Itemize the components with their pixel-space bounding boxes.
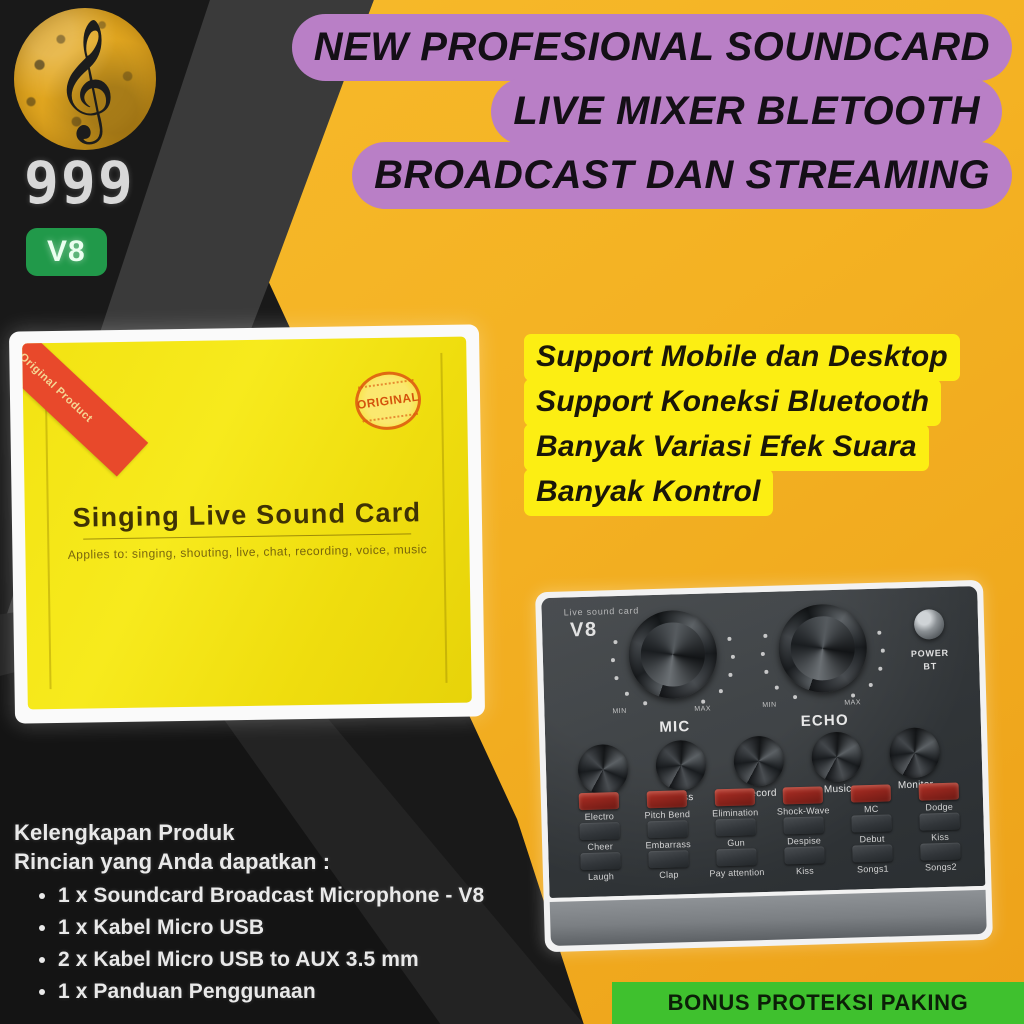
power-label-line1: POWER	[903, 647, 957, 662]
pad-label: Kiss	[771, 865, 839, 877]
pad-icon	[920, 843, 960, 861]
pad-icon	[716, 848, 756, 866]
list-item: 1 x Panduan Penggunaan	[58, 976, 514, 1008]
mic-knob-scale	[604, 595, 741, 717]
headline-line-3: BROADCAST DAN STREAMING	[352, 142, 1012, 209]
record-knob[interactable]	[733, 735, 784, 786]
monitor-knob[interactable]	[889, 727, 940, 778]
effect-button-shock-wave[interactable]: Shock-Wave	[769, 786, 838, 817]
bonus-banner: BONUS PROTEKSI PAKING	[612, 982, 1024, 1024]
headline-block: NEW PROFESIONAL SOUNDCARD LIVE MIXER BLE…	[352, 14, 1012, 206]
pad-label: Debut	[838, 833, 906, 845]
pad-label: Shock-Wave	[769, 805, 837, 817]
device-model-label: V8	[570, 619, 598, 643]
mic-knob-min-label: MIN	[612, 708, 627, 715]
pad-icon	[580, 852, 620, 870]
effect-button-dodge[interactable]: Dodge	[905, 782, 974, 813]
mic-knob-label: MIC	[637, 717, 713, 736]
pad-label: Pay attention	[703, 867, 771, 879]
effect-button-electro[interactable]: Electro	[565, 792, 634, 823]
power-label-line2: BT	[903, 660, 957, 675]
effect-button-debut[interactable]: Debut	[837, 814, 906, 845]
pad-label: Kiss	[906, 831, 974, 843]
pad-icon	[783, 816, 823, 834]
effect-button-songs1[interactable]: Songs1	[838, 844, 907, 875]
effect-button-grid: Electro Pitch Bend Elimination Shock-Wav…	[565, 782, 975, 883]
headline-line-2: LIVE MIXER BLETOOTH	[491, 78, 1002, 145]
pad-label: Pitch Bend	[633, 809, 701, 821]
pad-icon	[784, 846, 824, 864]
original-seal-icon: ORIGINAL	[351, 368, 424, 435]
pad-icon	[647, 820, 687, 838]
effect-button-elimination[interactable]: Elimination	[701, 788, 770, 819]
effect-button-pay-attention[interactable]: Pay attention	[702, 848, 771, 879]
pad-label: Despise	[770, 835, 838, 847]
feature-item-1: Support Mobile dan Desktop	[524, 334, 960, 381]
brand-logo-block: 𝄞 999 V8	[14, 8, 194, 276]
package-contents-block: Kelengkapan Produk Rincian yang Anda dap…	[14, 818, 514, 1008]
echo-knob-min-label: MIN	[762, 702, 777, 709]
model-badge: V8	[26, 228, 107, 276]
pad-icon	[919, 813, 959, 831]
box-subtitle: Applies to: singing, shouting, live, cha…	[25, 542, 469, 563]
echo-knob-scale	[754, 588, 891, 710]
pad-icon	[715, 788, 755, 806]
device-control-panel: Live sound card V8 MIN MAX MIC	[541, 586, 985, 898]
box-title: Singing Live Sound Card	[25, 497, 469, 535]
contents-list: 1 x Soundcard Broadcast Microphone - V8 …	[14, 880, 514, 1008]
treble-clef-glyph: 𝄞	[54, 27, 115, 131]
list-item: 2 x Kabel Micro USB to AUX 3.5 mm	[58, 944, 514, 976]
pad-icon	[648, 850, 688, 868]
contents-heading-2: Rincian yang Anda dapatkan :	[14, 847, 514, 876]
effect-button-laugh[interactable]: Laugh	[566, 852, 635, 883]
soundcard-device-image: Live sound card V8 MIN MAX MIC	[535, 580, 993, 952]
mic-knob-max-label: MAX	[694, 705, 711, 712]
pad-label: Laugh	[567, 871, 635, 883]
pad-icon	[919, 783, 959, 801]
pad-icon	[580, 822, 620, 840]
pad-label: Clap	[635, 869, 703, 881]
pad-icon	[783, 786, 823, 804]
pad-icon	[647, 790, 687, 808]
list-item: 1 x Soundcard Broadcast Microphone - V8	[58, 880, 514, 912]
treble-clef-icon: 𝄞	[14, 8, 156, 150]
echo-knob-label: ECHO	[783, 711, 867, 730]
box-ribbon-text: Original Product	[22, 351, 95, 425]
effect-button-mc[interactable]: MC	[837, 784, 906, 815]
contents-heading-1: Kelengkapan Produk	[14, 818, 514, 847]
echo-knob-max-label: MAX	[844, 699, 861, 706]
pad-icon	[852, 844, 892, 862]
effect-button-gun[interactable]: Gun	[701, 818, 770, 849]
pad-icon	[715, 818, 755, 836]
effect-button-pitch-bend[interactable]: Pitch Bend	[633, 790, 702, 821]
feature-list: Support Mobile dan Desktop Support Konek…	[524, 334, 960, 514]
effect-button-clap[interactable]: Clap	[634, 850, 703, 881]
bass-knob[interactable]	[655, 740, 706, 791]
pad-label: MC	[837, 803, 905, 815]
box-corner-ribbon: Original Product	[22, 337, 148, 477]
treble-knob[interactable]	[577, 744, 628, 795]
effect-button-songs2[interactable]: Songs2	[906, 842, 975, 873]
power-button-icon[interactable]	[914, 609, 945, 640]
product-box-image: Original Product ORIGINAL Singing Live S…	[9, 324, 485, 723]
box-divider	[83, 533, 411, 539]
pad-label: Electro	[565, 811, 633, 823]
pad-label: Elimination	[701, 807, 769, 819]
feature-item-3: Banyak Variasi Efek Suara	[524, 424, 929, 471]
feature-item-4: Banyak Kontrol	[524, 469, 773, 516]
effect-button-embarrass[interactable]: Embarrass	[634, 820, 703, 851]
pad-icon	[579, 792, 619, 810]
pad-icon	[851, 784, 891, 802]
music-knob[interactable]	[811, 731, 862, 782]
power-bt-label: POWER BT	[903, 647, 958, 675]
pad-label: Cheer	[566, 841, 634, 853]
pad-label: Songs1	[839, 863, 907, 875]
pad-icon	[851, 814, 891, 832]
box-front-face: Original Product ORIGINAL Singing Live S…	[22, 337, 472, 710]
brand-number: 999	[24, 154, 194, 212]
effect-button-kiss-row2[interactable]: Kiss	[905, 812, 974, 843]
effect-button-cheer[interactable]: Cheer	[566, 822, 635, 853]
product-advertisement-poster: 𝄞 999 V8 NEW PROFESIONAL SOUNDCARD LIVE …	[0, 0, 1024, 1024]
pad-label: Songs2	[907, 861, 975, 873]
feature-item-2: Support Koneksi Bluetooth	[524, 379, 941, 426]
effect-button-kiss-row3[interactable]: Kiss	[770, 846, 839, 877]
list-item: 1 x Kabel Micro USB	[58, 912, 514, 944]
headline-line-1: NEW PROFESIONAL SOUNDCARD	[292, 14, 1012, 81]
pad-label: Gun	[702, 837, 770, 849]
pad-label: Dodge	[905, 801, 973, 813]
effect-button-despise[interactable]: Despise	[769, 816, 838, 847]
pad-label: Embarrass	[634, 839, 702, 851]
